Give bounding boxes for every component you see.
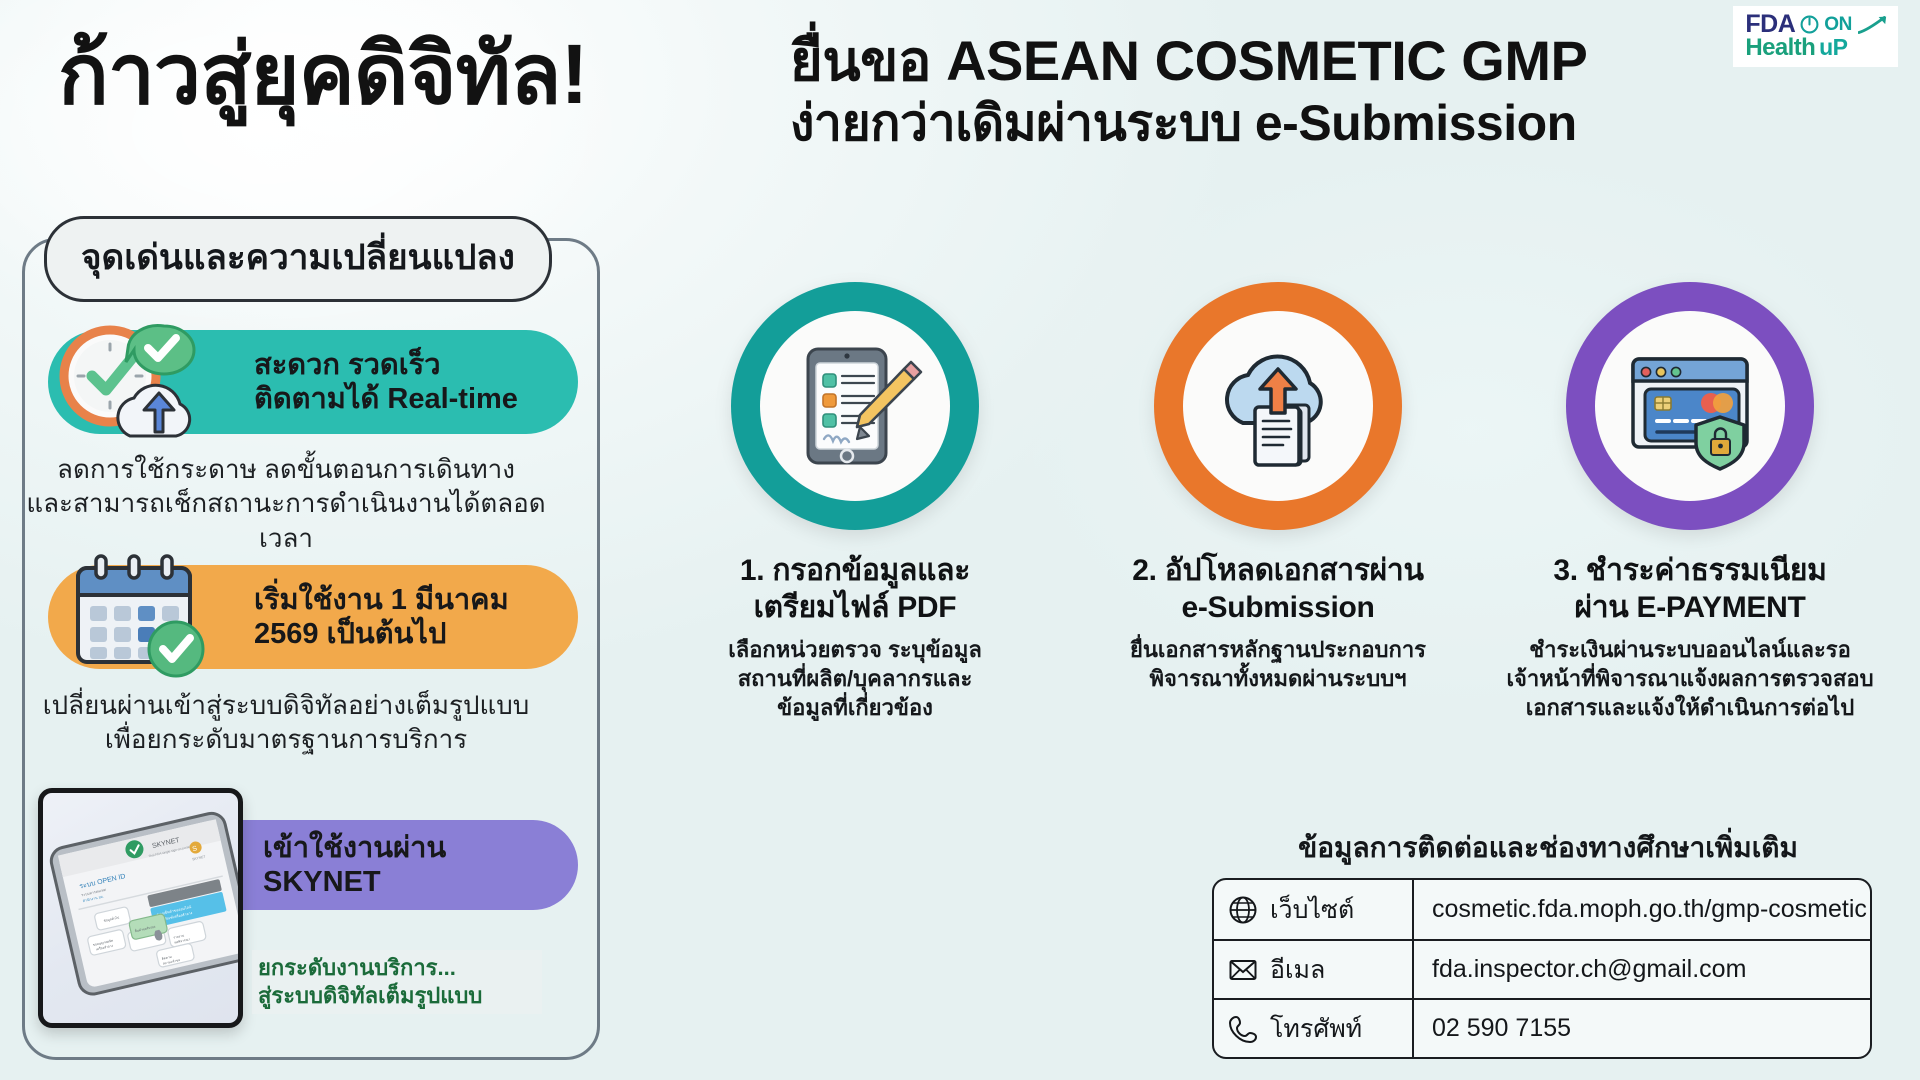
contact-label-website: เว็บไซต์ xyxy=(1214,880,1414,939)
tablet-device-illustration: SKYNET Thai FDA single sign-on portal S … xyxy=(43,793,243,1028)
contact-label-phone-text: โทรศัพท์ xyxy=(1270,1009,1362,1049)
feature-description-startdate: เปลี่ยนผ่านเข้าสู่ระบบดิจิทัลอย่างเต็มรู… xyxy=(6,688,566,757)
page-title-secondary: ยื่นขอ ASEAN COSMETIC GMP ง่ายกว่าเดิมผ่… xyxy=(790,30,1587,152)
header: ก้าวสู่ยุคดิจิทัล! ยื่นขอ ASEAN COSMETIC… xyxy=(0,14,1920,179)
step-card-3: 3. ชำระค่าธรรมเนียม ผ่าน E-PAYMENT ชำระเ… xyxy=(1480,282,1900,722)
feature-description-realtime: ลดการใช้กระดาษ ลดขั้นตอนการเดินทาง และสา… xyxy=(6,452,566,555)
contact-value-email[interactable]: fda.inspector.ch@gmail.com xyxy=(1414,941,1870,998)
page-title-main: ก้าวสู่ยุคดิจิทัล! xyxy=(58,32,587,116)
contact-label-phone: โทรศัพท์ xyxy=(1214,1000,1414,1057)
cloud-upload-documents-icon xyxy=(1203,331,1353,481)
feature-pill-realtime-label: สะดวก รวดเร็ว ติดตามได้ Real-time xyxy=(254,348,518,416)
phone-icon xyxy=(1228,1014,1258,1044)
credit-card-browser-shield-icon xyxy=(1615,331,1765,481)
step-3-description: ชำระเงินผ่านระบบออนไลน์และรอ เจ้าหน้าที่… xyxy=(1480,636,1900,722)
contact-table: เว็บไซต์ cosmetic.fda.moph.go.th/gmp-cos… xyxy=(1212,878,1872,1059)
contact-value-website[interactable]: cosmetic.fda.moph.go.th/gmp-cosmetic xyxy=(1414,880,1870,939)
page-title-line2: ง่ายกว่าเดิมผ่านระบบ e-Submission xyxy=(790,95,1587,153)
globe-icon xyxy=(1228,895,1258,925)
feature-pill-skynet-label: เข้าใช้งานผ่าน SKYNET xyxy=(263,831,446,899)
step-1-title: 1. กรอกข้อมูลและ เตรียมไฟล์ PDF xyxy=(645,552,1065,626)
step-2-description: ยื่นเอกสารหลักฐานประกอบการ พิจารณาทั้งหม… xyxy=(1068,636,1488,693)
contact-label-website-text: เว็บไซต์ xyxy=(1270,890,1354,930)
highlights-panel-heading: จุดเด่นและความเปลี่ยนแปลง xyxy=(44,216,552,302)
envelope-icon xyxy=(1228,955,1258,985)
step-1-description: เลือกหน่วยตรวจ ระบุข้อมูล สถานที่ผลิต/บุ… xyxy=(645,636,1065,722)
step-card-2: 2. อัปโหลดเอกสารผ่าน e-Submission ยื่นเอ… xyxy=(1068,282,1488,694)
step-card-1: 1. กรอกข้อมูลและ เตรียมไฟล์ PDF เลือกหน่… xyxy=(645,282,1065,722)
contact-row-email: อีเมล fda.inspector.ch@gmail.com xyxy=(1214,939,1870,998)
tablet-form-pencil-icon xyxy=(780,331,930,481)
contact-label-email: อีเมล xyxy=(1214,941,1414,998)
contact-value-phone[interactable]: 02 590 7155 xyxy=(1414,1000,1870,1057)
feature-pill-startdate-label: เริ่มใช้งาน 1 มีนาคม 2569 เป็นต้นไป xyxy=(254,583,509,651)
contact-heading: ข้อมูลการติดต่อและช่องทางศึกษาเพิ่มเติม xyxy=(1238,826,1858,870)
calendar-check-icon xyxy=(62,552,222,682)
step-2-title: 2. อัปโหลดเอกสารผ่าน e-Submission xyxy=(1068,552,1488,626)
contact-row-website: เว็บไซต์ cosmetic.fda.moph.go.th/gmp-cos… xyxy=(1214,880,1870,939)
clock-cloud-upload-icon xyxy=(52,318,222,448)
contact-row-phone: โทรศัพท์ 02 590 7155 xyxy=(1214,998,1870,1057)
tablet-skynet-screenshot: SKYNET Thai FDA single sign-on portal S … xyxy=(38,788,243,1028)
contact-label-email-text: อีเมล xyxy=(1270,950,1325,990)
step-1-ring xyxy=(731,282,979,530)
step-2-ring xyxy=(1154,282,1402,530)
page-title-line1: ยื่นขอ ASEAN COSMETIC GMP xyxy=(790,30,1587,93)
step-3-ring xyxy=(1566,282,1814,530)
step-3-title: 3. ชำระค่าธรรมเนียม ผ่าน E-PAYMENT xyxy=(1480,552,1900,626)
skynet-tagline: ยกระดับงานบริการ... สู่ระบบดิจิทัลเต็มรู… xyxy=(252,950,542,1014)
